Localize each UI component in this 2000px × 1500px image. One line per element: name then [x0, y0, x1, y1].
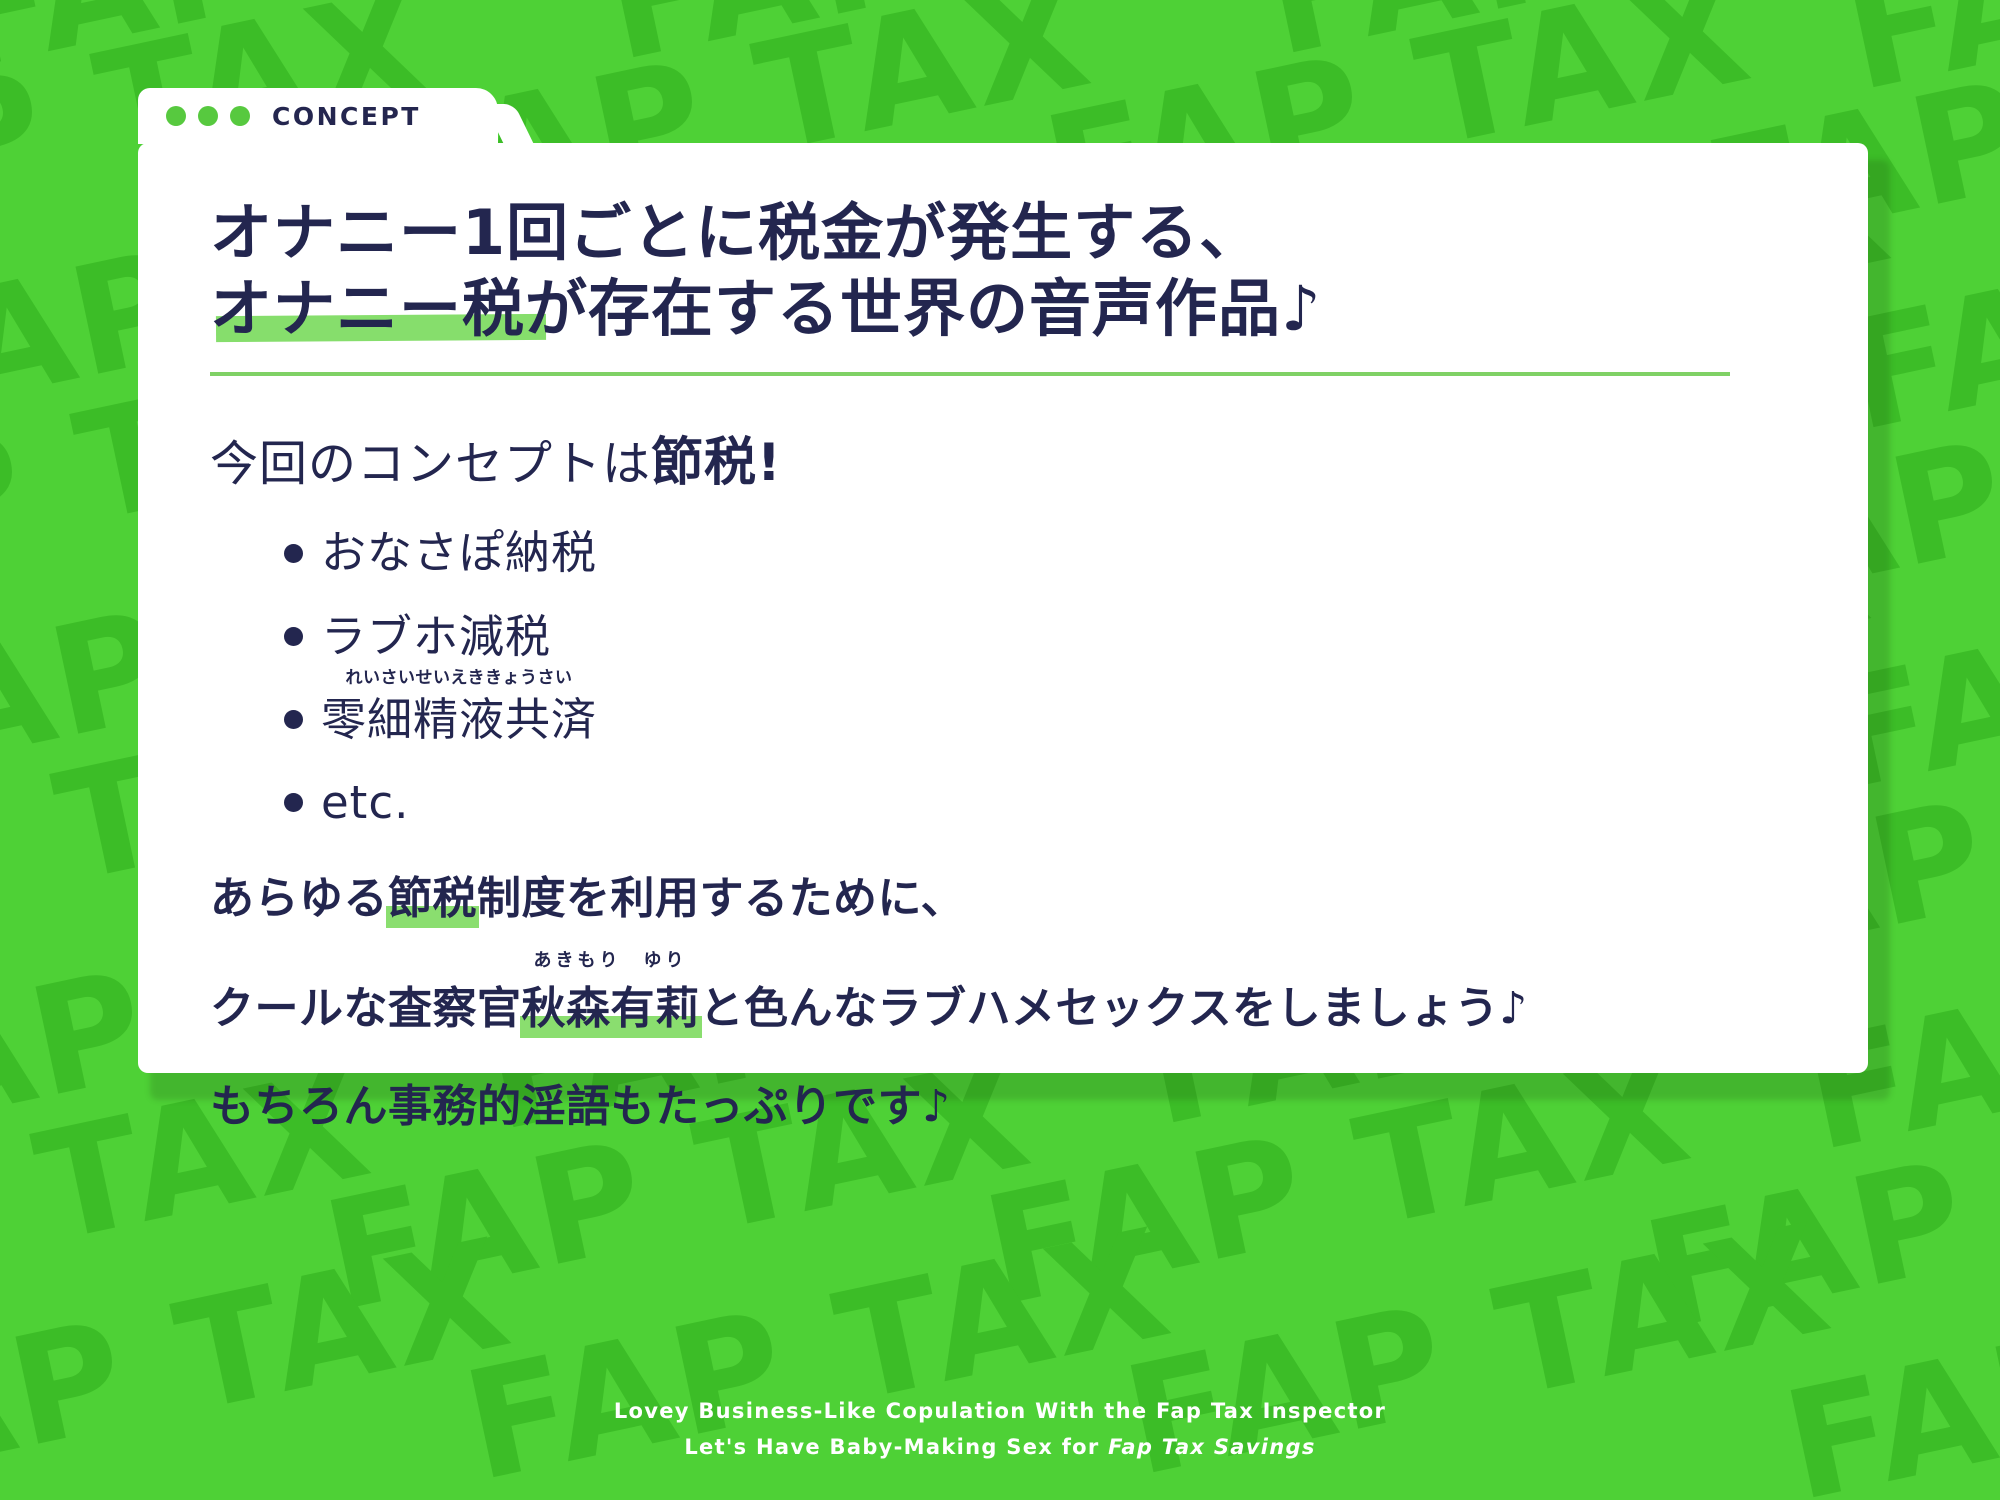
list-item: ラブホ減税 — [284, 613, 1810, 660]
bullet-dot-icon — [284, 710, 303, 729]
bullet-dot-icon — [284, 793, 303, 812]
character-name: あきもり ゆり秋森有莉 — [522, 972, 700, 1036]
content-card: オナニー1回ごとに税金が発生する、 オナニー税が存在する世界の音声作品♪ 今回の… — [138, 143, 1868, 1073]
lead-line: 今回のコンセプトは節税! — [210, 420, 1810, 495]
bullet-label: ラブホ減税 — [321, 613, 551, 660]
lead-prefix: 今回のコンセプトは — [210, 436, 651, 492]
closing-line-1-prefix: あらゆる — [210, 873, 388, 924]
bullet-label: おなさぽ納税 — [321, 529, 597, 576]
tab-dots — [166, 106, 250, 126]
bullet-dot-icon — [284, 544, 303, 563]
bullet-list: おなさぽ納税 ラブホ減税 れいさいせいえききょうさい 零細精液共済 etc. — [210, 529, 1810, 826]
closing-block: あらゆる節税制度を利用するために、 クールな査察官あきもり ゆり秋森有莉と色んな… — [210, 862, 1810, 1134]
bullet-label: 零細精液共済 — [321, 693, 597, 746]
closing-line-1-suffix: 制度を利用するために、 — [477, 873, 965, 924]
list-item: れいさいせいえききょうさい 零細精液共済 — [284, 696, 1810, 743]
character-name-label: 秋森有莉 — [522, 983, 700, 1034]
list-item: etc. — [284, 779, 1810, 826]
lead-emphasis: 節税! — [651, 433, 782, 493]
bullet-label: etc. — [321, 779, 409, 826]
tab-label: CONCEPT — [272, 102, 421, 131]
tab-dot-1-icon — [166, 106, 186, 126]
closing-line-2: クールな査察官あきもり ゆり秋森有莉と色んなラブハメセックスをしましょう♪ — [210, 972, 1810, 1036]
title-line-2: オナニー税が存在する世界の音声作品♪ — [210, 271, 1810, 347]
closing-line-3: もちろん事務的淫語もたっぷりです♪ — [210, 1070, 1810, 1134]
tab-dot-2-icon — [198, 106, 218, 126]
tab-dot-3-icon — [230, 106, 250, 126]
footer-line-1: Lovey Business-Like Copulation With the … — [0, 1393, 2000, 1430]
title-block: オナニー1回ごとに税金が発生する、 オナニー税が存在する世界の音声作品♪ — [210, 195, 1810, 346]
title-divider — [210, 372, 1730, 376]
footer-line-2-italic: Fap Tax Savings — [1108, 1435, 1315, 1459]
bullet-furigana: れいさいせいえききょうさい — [321, 670, 597, 688]
closing-line-2-suffix: と色んなラブハメセックスをしましょう♪ — [700, 983, 1528, 1034]
concept-tab[interactable]: CONCEPT — [138, 88, 498, 144]
footer-line-2-text: Let's Have Baby-Making Sex for — [684, 1435, 1108, 1459]
bullet-label-with-ruby: れいさいせいえききょうさい 零細精液共済 — [321, 696, 597, 743]
closing-line-2-prefix: クールな査察官 — [210, 983, 522, 1034]
bullet-dot-icon — [284, 627, 303, 646]
footer: Lovey Business-Like Copulation With the … — [0, 1393, 2000, 1467]
character-name-furigana: あきもり ゆり — [522, 946, 700, 972]
title-line-1: オナニー1回ごとに税金が発生する、 — [210, 195, 1810, 271]
closing-line-1-highlight: 節税 — [388, 862, 477, 926]
closing-line-1: あらゆる節税制度を利用するために、 — [210, 862, 1810, 926]
list-item: おなさぽ納税 — [284, 529, 1810, 576]
footer-line-2: Let's Have Baby-Making Sex for Fap Tax S… — [0, 1429, 2000, 1466]
